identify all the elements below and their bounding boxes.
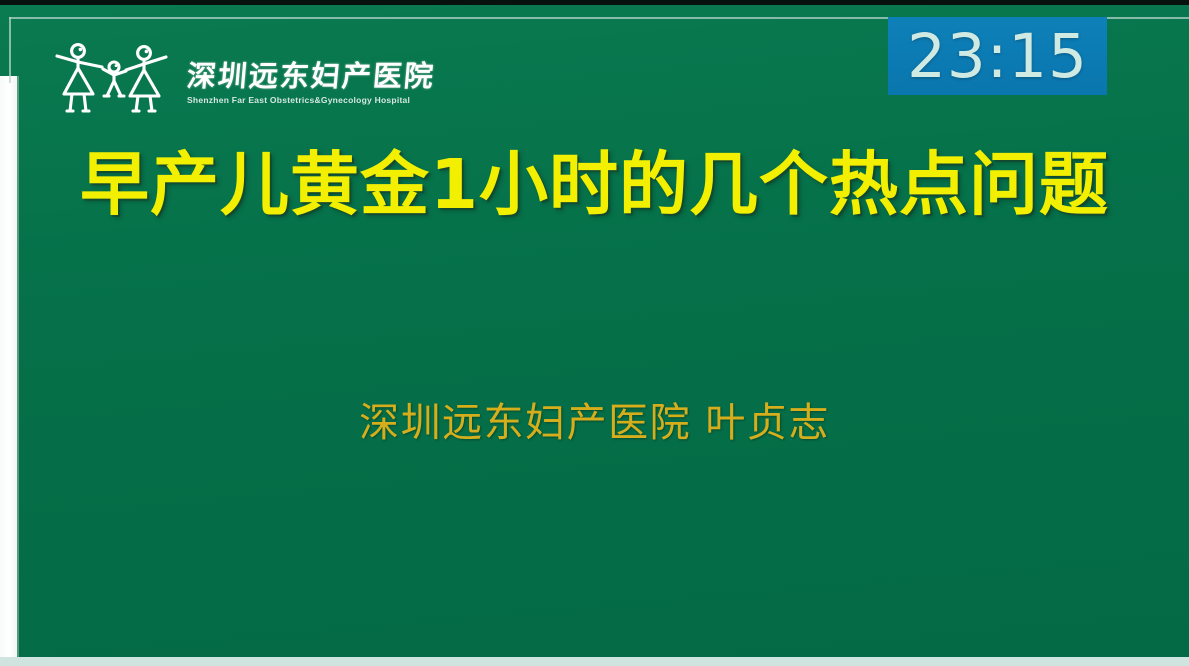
slide-canvas: 深圳远东妇产医院 Shenzhen Far East Obstetrics&Gy… — [0, 5, 1189, 658]
countdown-timer[interactable]: 23:15 — [888, 17, 1107, 95]
bottom-edge-line — [0, 657, 1189, 666]
slide-presenter: 深圳远东妇产医院 叶贞志 — [0, 399, 1189, 447]
countdown-timer-value: 23:15 — [907, 26, 1088, 87]
hospital-name-en: Shenzhen Far East Obstetrics&Gynecology … — [187, 95, 435, 105]
top-letterbox-bar — [0, 0, 1189, 5]
slide-title: 早产儿黄金1小时的几个热点问题 — [0, 148, 1189, 223]
hospital-logo: 深圳远东妇产医院 Shenzhen Far East Obstetrics&Gy… — [47, 41, 435, 113]
hospital-name-cn: 深圳远东妇产医院 — [186, 61, 437, 91]
presentation-slide-viewer: 深圳远东妇产医院 Shenzhen Far East Obstetrics&Gy… — [0, 0, 1189, 666]
family-figures-logo-icon — [47, 41, 173, 113]
slide-frame-left-line — [9, 17, 11, 83]
hospital-wordmark: 深圳远东妇产医院 Shenzhen Far East Obstetrics&Gy… — [187, 49, 435, 104]
